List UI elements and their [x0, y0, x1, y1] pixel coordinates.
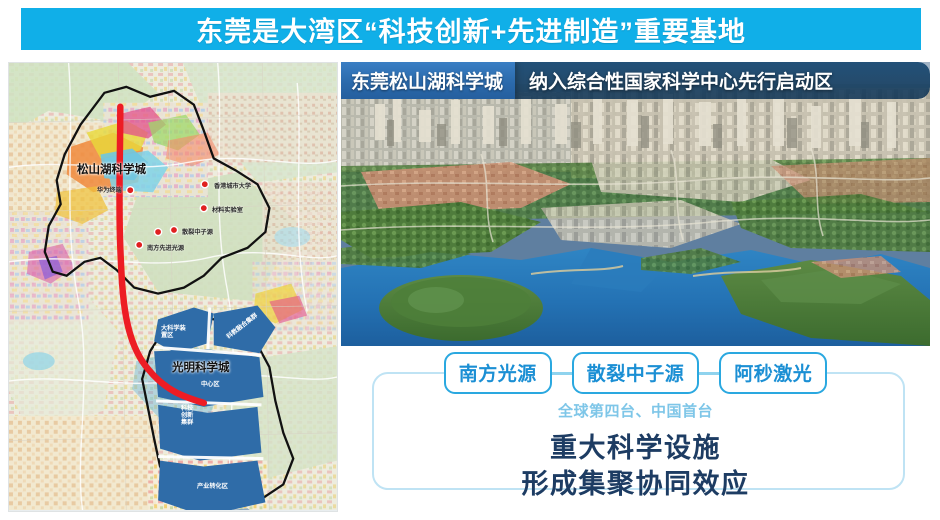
pill-label: 阿秒激光 [734, 359, 812, 386]
header-bar: 东莞是大湾区“科技创新+先进制造”重要基地 [21, 8, 921, 50]
page-title: 东莞是大湾区“科技创新+先进制造”重要基地 [196, 10, 746, 49]
map-panel[interactable]: 松山湖科学城 光明科学城 华为终端 香港城市大学 材料实验室 散裂中子源 南方先… [8, 62, 338, 512]
banner-badge: 东莞松山湖科学城 [341, 62, 515, 99]
aerial-photo: 东莞松山湖科学城 纳入综合性国家科学中心先行启动区 [341, 62, 930, 346]
aerial-photo-graphic [341, 62, 930, 346]
sub-note: 全球第四台、中国首台 [341, 400, 930, 421]
pill-attosecond-laser[interactable]: 阿秒激光 [719, 352, 827, 394]
right-column: 东莞松山湖科学城 纳入综合性国家科学中心先行启动区 南方光源 散裂中子源 [341, 62, 932, 512]
pill-southern-light-source[interactable]: 南方光源 [444, 352, 552, 394]
banner-text: 纳入综合性国家科学中心先行启动区 [515, 62, 833, 99]
pill-label: 散裂中子源 [587, 359, 685, 386]
map-graphic [9, 63, 337, 510]
pill-connector-1 [551, 372, 573, 375]
banner-text-label: 纳入综合性国家科学中心先行启动区 [529, 67, 833, 94]
main-headline-line-1: 重大科学设施 [341, 426, 930, 465]
slide-root: 东莞是大湾区“科技创新+先进制造”重要基地 [0, 0, 940, 520]
pill-label: 南方光源 [459, 359, 537, 386]
pill-connector-2 [698, 372, 720, 375]
facility-pill-row: 南方光源 散裂中子源 阿秒激光 [341, 352, 930, 394]
banner-badge-label: 东莞松山湖科学城 [351, 67, 503, 94]
photo-banner: 东莞松山湖科学城 纳入综合性国家科学中心先行启动区 [341, 62, 930, 99]
main-headline-line-2: 形成集聚协同效应 [341, 462, 930, 501]
pill-spallation-neutron-source[interactable]: 散裂中子源 [572, 352, 700, 394]
info-block: 南方光源 散裂中子源 阿秒激光 全球第四台、中国首台 重大科学设施 形成集聚协同… [341, 352, 930, 512]
